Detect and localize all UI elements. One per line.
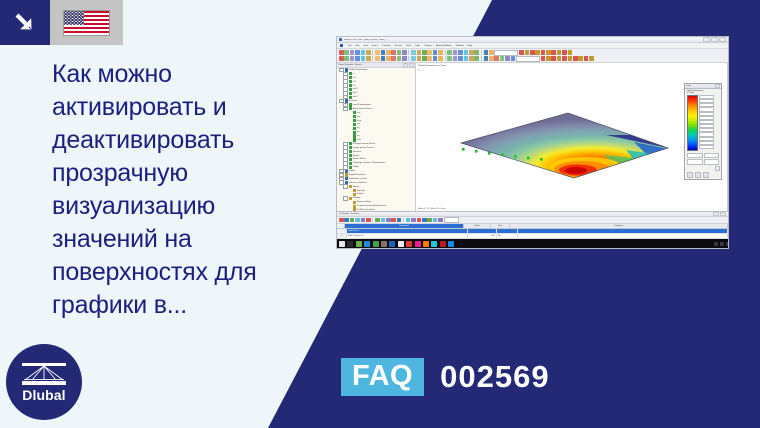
toolbar-button[interactable] [494,56,499,61]
table-toolbar-button[interactable] [386,218,391,223]
toolbar-button[interactable] [433,56,438,61]
tree-item-label: m-y [357,116,360,118]
tree-expander-icon[interactable] [343,196,348,201]
tree-item-label: Strains [353,155,359,157]
toolbar-button[interactable] [458,56,463,61]
toolbar-button[interactable] [541,50,546,55]
tree-node-icon [353,201,356,204]
menu-item-help[interactable]: Help [468,45,473,47]
tree-node-icon [349,162,352,165]
menu-item-results[interactable]: Results [395,45,402,47]
toolbar-button[interactable] [438,50,443,55]
legend-close-icon[interactable] [715,84,720,89]
toolbar-button[interactable] [578,56,583,61]
table-cell-description: Load Case 1 [347,229,468,233]
toolbar-button[interactable] [541,56,546,61]
legend-max-label [687,153,703,158]
toolbar-button[interactable] [584,56,589,61]
us-flag-icon [63,10,110,36]
taskbar-search-icon[interactable] [347,241,353,247]
tree-node-icon [349,166,352,169]
tree-item-label: phi-Z [353,96,358,98]
toolbar-button[interactable] [568,50,573,55]
toolbar-button[interactable] [361,56,366,61]
tree-item-label: u-Z [353,85,356,87]
toolbar-button[interactable] [397,56,402,61]
table-toolbar-button[interactable] [361,218,366,223]
project-navigator[interactable]: Project Navigator - Results -Global Defo… [337,63,416,211]
toolbar-button[interactable] [427,50,432,55]
nodal-supports [460,147,570,161]
toolbar-button[interactable] [422,50,427,55]
tree-item-label: m-xy [357,120,362,122]
toolbar-button[interactable] [489,56,494,61]
toolbar-button[interactable] [464,56,469,61]
tree-node-icon [353,127,356,130]
table-toolbar-button[interactable] [406,218,411,223]
tree-item-label: Plastic Strains [353,158,366,160]
tree-node-icon [349,80,352,83]
toolbar-button[interactable] [391,56,396,61]
tree-node-icon [353,193,356,196]
tree-item-label: Values on Surfaces [349,182,367,184]
toolbar-button[interactable] [469,56,474,61]
table-cell-value [468,229,497,233]
windows-taskbar[interactable] [337,239,729,248]
tree-node-icon [349,197,352,200]
toolbar-button[interactable] [525,50,530,55]
dlubal-logo-text: Dlubal [22,388,65,402]
truss-icon [22,363,66,385]
table-toolbar-button[interactable] [411,218,416,223]
tree-node-icon [353,134,356,137]
toolbar-button[interactable] [411,56,416,61]
tree-item-label: Shape [353,166,359,168]
tree-node-icon [353,119,356,122]
toolbar-button[interactable] [453,56,458,61]
toolbar-button[interactable] [402,56,407,61]
table-col-unit: Unit [491,224,510,228]
tree-node-icon [349,185,352,188]
tree-item-label: Distribution of Load [349,178,367,180]
tree-node-icon [349,154,352,157]
tree-node-icon [353,189,356,192]
tree-item-label: n-y [357,135,360,137]
table-toolbar-button[interactable] [339,218,344,223]
tree-item-label: Isolines [357,193,364,195]
tree-item-label: u [353,73,354,75]
legend-scale-tick [699,145,714,149]
tree-item-label: v-y [357,127,360,129]
navigator-controls[interactable] [403,63,414,68]
screenshot-root: Как можно активировать и деактивировать … [0,0,760,428]
table-panel-title-label: 4.0 Results - Summary [339,213,359,215]
tree-expander-icon[interactable] [343,184,348,189]
tree-node-icon [349,150,352,153]
taskbar-icon-notepad[interactable] [398,241,404,247]
toolbar-button[interactable] [474,56,479,61]
toolbar-button[interactable] [511,56,516,61]
tree-node-icon [353,131,356,134]
toolbar-button[interactable] [381,50,386,55]
tree-item-label: Extreme Values [357,201,372,203]
tree-item-label: phi-X [353,88,358,90]
taskbar-tray[interactable] [714,242,729,246]
toolbar-button[interactable] [551,56,556,61]
toolbar-button[interactable] [469,50,474,55]
toolbar-button[interactable] [350,56,355,61]
toolbar-button[interactable] [427,56,432,61]
toolbar-button[interactable] [402,50,407,55]
toolbar-button[interactable] [366,50,371,55]
table-toolbar-button[interactable] [422,218,427,223]
us-flag-button[interactable] [50,0,123,45]
menu-item-edit[interactable]: Edit [356,45,360,47]
tree-expander-icon[interactable] [343,165,348,170]
tree-item-label: u-X [353,77,356,79]
dlubal-logo: Dlubal [6,344,82,420]
viewport-result-label: Global Deformations u-Z [mm] [418,65,446,67]
tree-item-label: Principal Internal Forces [353,143,375,145]
tree-node-icon [353,138,356,141]
tree-item-label: Values [353,186,359,188]
toolbar-button[interactable] [546,50,551,55]
table-toolbar-button[interactable] [375,218,380,223]
legend-minmax [687,153,719,165]
toolbar-button[interactable] [589,56,594,61]
toolbar-button[interactable] [344,56,349,61]
toolbar-button[interactable] [489,50,494,55]
results-legend-panel[interactable]: Panel Global Deformations u-Z [mm] [684,83,722,180]
toolbar-button[interactable] [397,50,402,55]
toolbar-button[interactable] [375,56,380,61]
taskbar-icon-folder[interactable] [381,241,387,247]
toolbar-button[interactable] [361,50,366,55]
toolbar-button[interactable] [375,50,380,55]
toolbar-button[interactable] [386,50,391,55]
tree-node-icon [349,146,352,149]
menu-item-options[interactable]: Options [424,45,432,47]
tree-node-icon [349,103,352,106]
table-cell-comment [518,229,728,233]
navigator-header-label: Project Navigator - Results [338,64,362,66]
legend-min-value [704,159,720,164]
taskbar-icon-rfem[interactable] [423,241,429,247]
toolbar-button[interactable] [474,50,479,55]
taskbar-icon-media[interactable] [415,241,421,247]
menu-item-calculate[interactable]: Calculate [382,45,391,47]
table-cell-value: 0.00 [468,234,497,238]
tree-item-label: Global Deformations [349,69,368,71]
tree-node-icon [345,170,348,173]
tree-node-icon [349,84,352,87]
legend-color-bar [687,95,698,151]
app-icon [339,38,342,41]
tree-item-label: Orthotropic Surface Characteristics [353,162,385,164]
toolbar-button[interactable] [433,50,438,55]
menu-item-file[interactable]: File [348,45,352,47]
menu-app-icon [340,44,343,47]
tree-node-icon [349,96,352,99]
toolbar-button[interactable] [557,56,562,61]
table-toolbar-button[interactable] [381,218,386,223]
toolbar-button[interactable] [391,50,396,55]
language-strip [0,0,123,45]
tree-item-label: u-Y [353,81,356,83]
toolbar-button[interactable] [519,50,524,55]
toolbar-combo[interactable] [494,50,518,56]
tree-item-label: Cables [349,170,355,172]
toolbar-button[interactable] [417,50,422,55]
window-controls[interactable] [703,37,726,42]
table-toolbar[interactable] [337,217,728,224]
toolbar-button[interactable] [546,56,551,61]
table-toolbar-button[interactable] [350,218,355,223]
toolbar-button[interactable] [447,56,452,61]
tree-expander-icon[interactable] [343,107,348,112]
legend-min-label [687,159,703,164]
toolbar-button[interactable] [339,56,344,61]
tree-item-label: On FE mesh points [357,209,375,211]
table-cell-index [337,229,347,233]
toolbar-button[interactable] [381,56,386,61]
toolbar-button[interactable] [568,56,573,61]
toolbar-button[interactable] [355,56,360,61]
tree-node-icon [353,123,356,126]
faq-chip-label: FAQ [341,358,424,396]
menu-item-view[interactable]: View [363,45,368,47]
toolbar-button[interactable] [422,56,427,61]
toolbar-button[interactable] [438,56,443,61]
toolbar-button[interactable] [355,50,360,55]
tree-node-icon [353,115,356,118]
toolbar-button[interactable] [464,50,469,55]
table-filter-input[interactable] [444,217,459,223]
toolbar-button[interactable] [339,50,344,55]
toolbar-button[interactable] [366,56,371,61]
toolbar-button[interactable] [447,50,452,55]
taskbar-icon-tool[interactable] [431,241,437,247]
arrow-down-right-icon [0,0,50,45]
tree-item-label: Basic Internal Forces [353,108,373,110]
table-toolbar-button[interactable] [417,218,422,223]
taskbar-icon-active-app[interactable] [440,241,446,247]
menu-item-tools[interactable]: Tools [406,45,411,47]
toolbar-combo[interactable] [516,56,540,62]
table-cell-unit: kN [497,234,518,238]
menu-item-window[interactable]: Window [456,45,464,47]
toolbar-button[interactable] [484,56,489,61]
table-cell-comment [518,234,728,238]
legend-gradient-body [685,95,721,151]
tree-item-label: phi-Y [353,92,358,94]
tree-item-label: Local Deformations [353,104,371,106]
table-cell-description: Sum of loads in X [347,234,468,238]
faq-number: 002569 [440,361,549,393]
deformed-plate-contour [456,105,671,185]
legend-scale-values [699,95,714,149]
table-toolbar-button[interactable] [397,218,402,223]
navigator-tree[interactable]: -Global Deformationsuu-Xu-Yu-Zphi-Xphi-Y… [337,68,415,211]
tree-node-icon [349,158,352,161]
menu-item-addon-modules[interactable]: Add-on Modules [436,45,452,47]
table-toolbar-button[interactable] [427,218,432,223]
toolbar-button[interactable] [562,56,567,61]
tree-item-label: n-x [357,131,360,133]
taskbar-icon-pdf[interactable] [406,241,412,247]
tree-node-icon [353,205,356,208]
tree-item-label: Settings [353,197,361,199]
table-cell-unit [497,229,518,233]
toolbar-button[interactable] [573,56,578,61]
viewport-status-text: Max u-Z: 9.1 | Min u-Z: 0.0 mm [418,208,445,210]
tree-item-label: n-xy [357,139,361,141]
taskbar-start-icon[interactable] [339,241,345,247]
table-toolbar-button[interactable] [355,218,360,223]
legend-footer-buttons[interactable] [687,172,709,178]
faq-badge: FAQ 002569 [341,358,550,396]
toolbar-button[interactable] [458,50,463,55]
table-col-value: Value [464,224,491,228]
toolbars[interactable] [337,49,728,63]
table-col-description: Description [345,224,464,228]
tree-item-label: Support Reactions [349,174,366,176]
legend-title-label: Panel [686,85,691,87]
toolbar-button[interactable] [350,50,355,55]
navigator-tree-item[interactable]: On FE mesh points [337,208,415,211]
toolbar-button[interactable] [411,50,416,55]
rfem-screenshot-window: RFEM 5.26.01 x64 - [FAQ 002569 - Plate] … [336,36,729,249]
work-area: Project Navigator - Results -Global Defo… [337,63,728,211]
axis-triad-icon [418,68,421,71]
table-panel-controls[interactable] [713,212,726,217]
table-toolbar-button[interactable] [391,218,396,223]
menu-item-insert[interactable]: Insert [372,45,377,47]
taskbar-icon-explorer[interactable] [356,241,362,247]
toolbar-button[interactable] [530,50,535,55]
tree-item-label: On grid and user-defined points [357,205,386,207]
table-col-index [337,224,345,228]
legend-resize-grip[interactable] [715,166,720,171]
taskbar-icon-excel[interactable] [373,241,379,247]
toolbar-button[interactable] [417,56,422,61]
table-col-comment: Comment [510,224,728,228]
tree-item-label: Design Internal Forces [353,147,374,149]
page-title: Как можно активировать и деактивировать … [52,58,304,322]
toolbar-button[interactable] [453,50,458,55]
toolbar-button[interactable] [562,50,567,55]
toolbar-button[interactable] [551,50,556,55]
toolbar-button[interactable] [500,56,505,61]
taskbar-icon-browser[interactable] [364,241,370,247]
tree-item-label: m-x [357,112,360,114]
tree-node-icon [349,88,352,91]
table-toolbar-button[interactable] [366,218,371,223]
taskbar-icon-word[interactable] [389,241,395,247]
tree-node-icon [345,173,348,176]
table-toolbar-button[interactable] [438,218,443,223]
toolbar-button[interactable] [344,50,349,55]
toolbar-button[interactable] [505,56,510,61]
toolbar-button[interactable] [557,50,562,55]
toolbar-button[interactable] [535,50,540,55]
tree-node-icon [349,92,352,95]
legend-max-value [704,153,720,158]
tree-item-label: Stresses [353,151,361,153]
graphics-viewport[interactable]: Global Deformations u-Z [mm] [416,63,728,211]
taskbar-icon-extra[interactable] [448,241,454,247]
tree-item-label: Surfaces [349,100,357,102]
toolbar-button[interactable] [386,56,391,61]
tree-node-icon [353,208,356,211]
window-title-text: RFEM 5.26.01 x64 - [FAQ 002569 - Plate] [344,39,385,41]
table-toolbar-button[interactable] [344,218,349,223]
menu-item-table[interactable]: Table [415,45,420,47]
table-cell-index: 1 [337,234,347,238]
toolbar-row-2[interactable] [339,56,726,62]
table-toolbar-button[interactable] [433,218,438,223]
toolbar-button[interactable] [484,50,489,55]
tree-item-label: Isobands [357,190,365,192]
tree-item-label: v-x [357,123,360,125]
